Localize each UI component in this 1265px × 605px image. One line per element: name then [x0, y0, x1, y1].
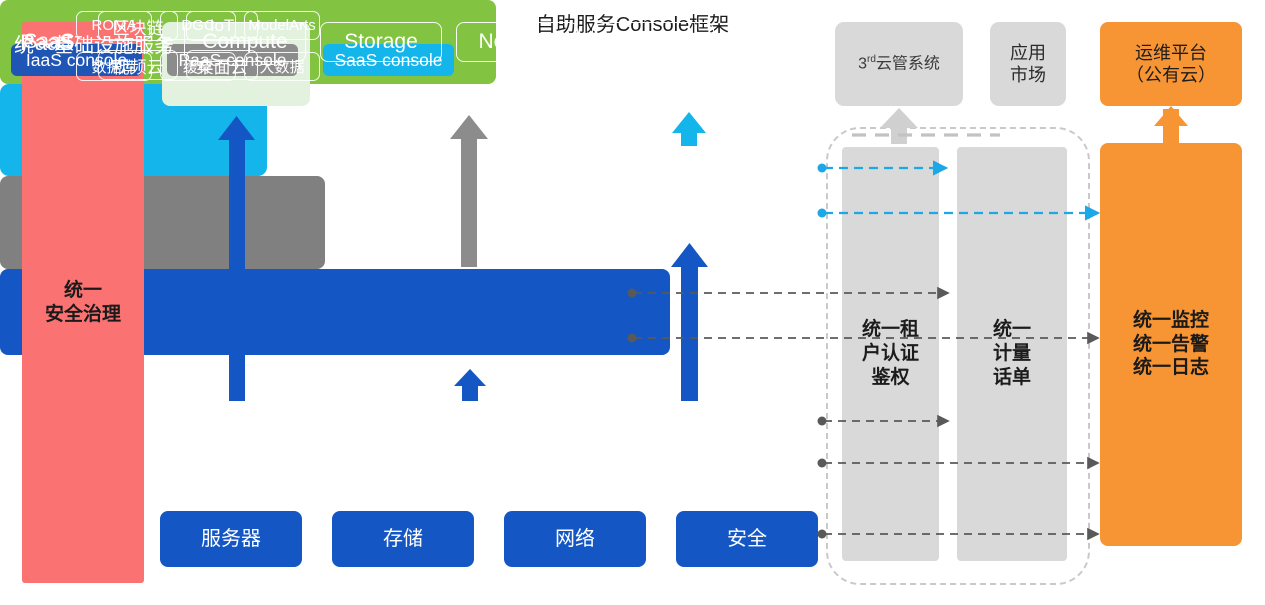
- third-party-label: 3rd云管系统: [858, 54, 940, 74]
- auth-line-2: 户认证: [862, 342, 919, 366]
- billing-line-1: 统一: [993, 318, 1031, 342]
- ops-col-line-3: 统一日志: [1133, 356, 1209, 380]
- ops-top-line-1: 运维平台: [1126, 42, 1216, 65]
- arrow-infra-to-saas: [671, 243, 708, 401]
- unified-tenant-auth-column[interactable]: 统一租 户认证 鉴权: [842, 147, 939, 561]
- hardware-item-server[interactable]: 服务器: [160, 511, 302, 567]
- infrastructure-label: 统一基础设施服务: [14, 29, 174, 58]
- hardware-item-network[interactable]: 网络: [504, 511, 646, 567]
- third-party-cloud-mgmt-block[interactable]: 3rd云管系统: [835, 22, 963, 106]
- app-market-line-2: 市场: [1010, 64, 1046, 87]
- infra-item-storage[interactable]: Storage: [320, 22, 442, 62]
- hardware-item-security[interactable]: 安全: [676, 511, 818, 567]
- unified-monitoring-column[interactable]: 统一监控 统一告警 统一日志: [1100, 143, 1242, 546]
- ops-platform-public-cloud-block[interactable]: 运维平台 （公有云）: [1100, 22, 1242, 106]
- infra-item-cce[interactable]: CCE: [592, 22, 714, 62]
- arrow-ops-column-to-ops-platform: [1154, 106, 1188, 143]
- infra-item-compute[interactable]: Compute: [184, 22, 306, 62]
- third-party-sup: rd: [867, 54, 876, 65]
- security-line-2: 安全治理: [45, 303, 121, 327]
- ops-col-line-1: 统一监控: [1133, 309, 1209, 333]
- arrow-paas-to-console: [450, 115, 488, 267]
- billing-line-2: 计量: [993, 342, 1031, 366]
- billing-line-3: 话单: [993, 366, 1031, 390]
- auth-line-1: 统一租: [862, 318, 919, 342]
- security-line-1: 统一: [45, 279, 121, 303]
- app-market-block[interactable]: 应用 市场: [990, 22, 1066, 106]
- auth-line-3: 鉴权: [862, 366, 919, 390]
- arrow-saas-to-saas-console: [672, 112, 706, 146]
- unified-security-governance-block[interactable]: 统一 安全治理: [22, 22, 144, 583]
- ops-col-line-2: 统一告警: [1133, 333, 1209, 357]
- unified-metering-billing-column[interactable]: 统一 计量 话单: [957, 147, 1067, 561]
- ops-top-line-2: （公有云）: [1126, 64, 1216, 87]
- app-market-line-1: 应用: [1010, 42, 1046, 65]
- infra-item-network[interactable]: Network: [456, 22, 578, 62]
- arrow-infra-to-paas: [454, 369, 486, 401]
- hardware-item-storage[interactable]: 存储: [332, 511, 474, 567]
- architecture-diagram: 统一 安全治理 API网关 自助服务Console框架 IaaS console…: [0, 0, 1265, 605]
